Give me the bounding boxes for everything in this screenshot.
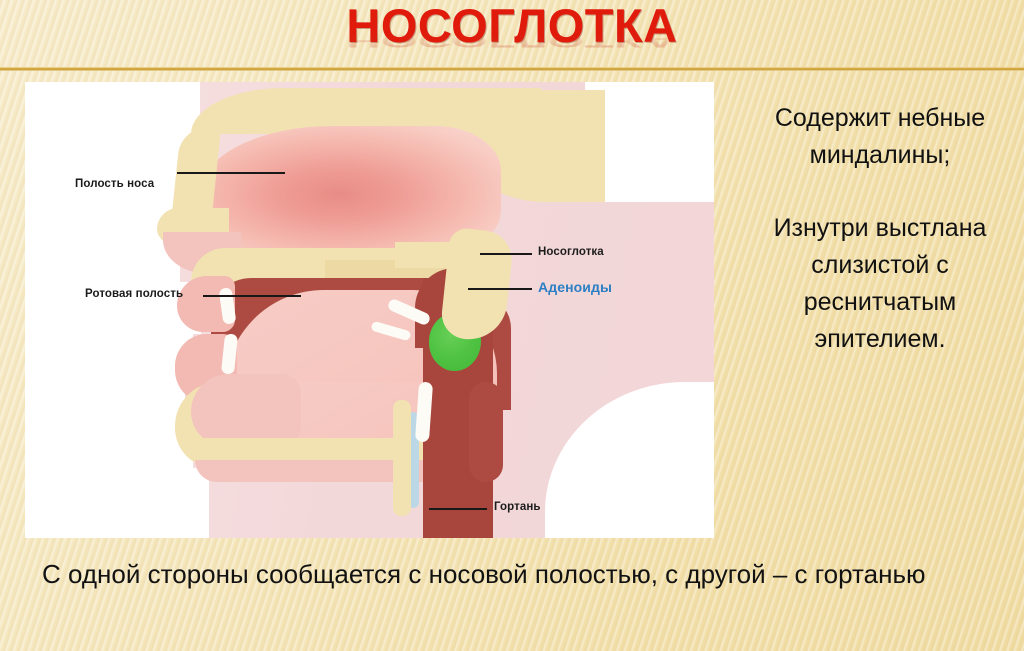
label-nasal-cavity: Полость носа (75, 178, 154, 190)
profile-cut-12 (25, 432, 193, 468)
label-nasopharynx: Носоглотка (538, 246, 604, 258)
leader-adenoids (468, 288, 532, 290)
label-larynx: Гортань (494, 501, 541, 513)
profile-cut-4 (25, 196, 177, 224)
larynx-cartilage-bone (393, 400, 411, 516)
right-paragraph-spacer (736, 174, 1024, 210)
epiglottis (469, 382, 503, 482)
slide: НОСОГЛОТКА НОСОГЛОТКА (0, 0, 1024, 651)
bottom-caption: С одной стороны сообщается с носовой пол… (42, 556, 982, 592)
leader-oral-cavity (203, 295, 301, 297)
leader-nasal-cavity (177, 172, 285, 174)
profile-cut-11 (25, 392, 185, 432)
profile-cut-13 (25, 468, 209, 538)
anatomy-figure: Полость носа Ротовая полость Носоглотка … (25, 82, 714, 538)
profile-cut-9 (25, 334, 193, 358)
nasal-cavity-region (201, 126, 501, 248)
title-divider (0, 67, 1024, 71)
profile-cut-8 (25, 308, 201, 334)
profile-cut-6 (25, 254, 180, 282)
profile-cut-5 (25, 224, 173, 254)
profile-cut-2 (25, 142, 190, 170)
leader-nasopharynx (480, 253, 532, 255)
right-paragraph-2: Изнутри выстлана слизистой с реснитчатым… (736, 210, 1024, 358)
label-oral-cavity: Ротовая полость (85, 288, 183, 300)
page-title: НОСОГЛОТКА (0, 1, 1024, 51)
profile-cut-1 (25, 82, 200, 142)
right-paragraph-1: Содержит небные миндалины; (736, 100, 1024, 174)
chin-soft-tissue (191, 374, 301, 446)
right-text-column: Содержит небные миндалины; Изнутри выстл… (736, 100, 1024, 358)
title-band: НОСОГЛОТКА НОСОГЛОТКА (0, 0, 1024, 68)
profile-cut-10 (25, 358, 187, 392)
label-adenoids: Аденоиды (538, 279, 612, 295)
leader-larynx (429, 508, 487, 510)
